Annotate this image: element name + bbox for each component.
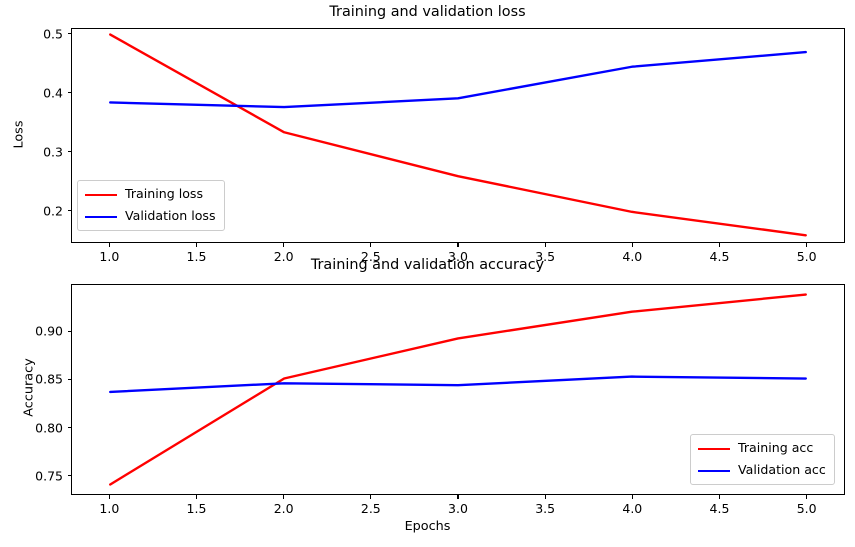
legend-entry-loss-0[interactable]: Training loss — [85, 187, 216, 202]
legend-line-swatch-icon — [85, 194, 117, 196]
loss-xtick-mark — [719, 243, 720, 247]
accuracy-xtick-label: 2.5 — [361, 501, 381, 516]
loss-xtick-mark — [457, 243, 458, 247]
legend-line-swatch-icon — [698, 448, 730, 450]
loss-ytick-label: 0.4 — [0, 85, 63, 100]
accuracy-xtick-label: 1.0 — [99, 501, 119, 516]
accuracy-ytick-mark — [68, 331, 72, 332]
accuracy-ytick-mark — [68, 379, 72, 380]
legend-entry-loss-1[interactable]: Validation loss — [85, 209, 216, 224]
accuracy-xtick-label: 4.5 — [710, 501, 730, 516]
legend-label: Validation acc — [738, 464, 826, 477]
accuracy-xtick-label: 2.0 — [274, 501, 294, 516]
accuracy-xtick-mark — [719, 495, 720, 499]
loss-xtick-mark — [806, 243, 807, 247]
accuracy-xtick-label: 5.0 — [797, 501, 817, 516]
loss-ytick-mark — [68, 210, 72, 211]
accuracy-xtick-mark — [109, 495, 110, 499]
loss-xtick-mark — [283, 243, 284, 247]
legend-label: Validation loss — [125, 210, 216, 223]
accuracy-xtick-label: 4.0 — [622, 501, 642, 516]
accuracy-xtick-mark — [457, 495, 458, 499]
accuracy-ytick-label: 0.80 — [0, 420, 63, 435]
accuracy-ytick-label: 0.85 — [0, 372, 63, 387]
accuracy-xtick-mark — [370, 495, 371, 499]
accuracy-xtick-mark — [283, 495, 284, 499]
legend-line-swatch-icon — [698, 470, 730, 472]
accuracy-xtick-mark — [196, 495, 197, 499]
loss-ytick-label: 0.3 — [0, 144, 63, 159]
accuracy-ytick-mark — [68, 475, 72, 476]
accuracy-ytick-mark — [68, 427, 72, 428]
legend-label: Training acc — [738, 442, 813, 455]
legend-entry-accuracy-1[interactable]: Validation acc — [698, 463, 826, 478]
legend-label: Training loss — [125, 188, 203, 201]
legend-line-swatch-icon — [85, 216, 117, 218]
loss-xtick-mark — [632, 243, 633, 247]
accuracy-xtick-label: 1.5 — [187, 501, 207, 516]
loss-xtick-mark — [109, 243, 110, 247]
accuracy-xtick-mark — [632, 495, 633, 499]
loss-xtick-mark — [196, 243, 197, 247]
accuracy-ytick-label: 0.90 — [0, 324, 63, 339]
loss-xtick-mark — [370, 243, 371, 247]
matplotlib-figure: Training and validation loss Loss 0.20.3… — [0, 0, 855, 547]
loss-ytick-label: 0.5 — [0, 26, 63, 41]
accuracy-xtick-label: 3.0 — [448, 501, 468, 516]
loss-ytick-label: 0.2 — [0, 203, 63, 218]
loss-legend: Training lossValidation loss — [77, 180, 225, 231]
accuracy-ytick-label: 0.75 — [0, 468, 63, 483]
accuracy-chart-title: Training and validation accuracy — [0, 258, 855, 274]
legend-entry-accuracy-0[interactable]: Training acc — [698, 441, 826, 456]
accuracy-legend: Training accValidation acc — [690, 434, 835, 485]
loss-chart-title: Training and validation loss — [0, 5, 855, 21]
loss-ytick-mark — [68, 151, 72, 152]
loss-ytick-mark — [68, 92, 72, 93]
accuracy-xtick-mark — [806, 495, 807, 499]
accuracy-x-axis-label: Epochs — [0, 519, 855, 534]
loss-series-1 — [110, 52, 805, 107]
accuracy-xtick-label: 3.5 — [535, 501, 555, 516]
loss-xtick-mark — [545, 243, 546, 247]
accuracy-series-1 — [110, 377, 805, 392]
loss-ytick-mark — [68, 33, 72, 34]
accuracy-xtick-mark — [545, 495, 546, 499]
accuracy-y-axis-label: Accuracy — [22, 353, 37, 423]
